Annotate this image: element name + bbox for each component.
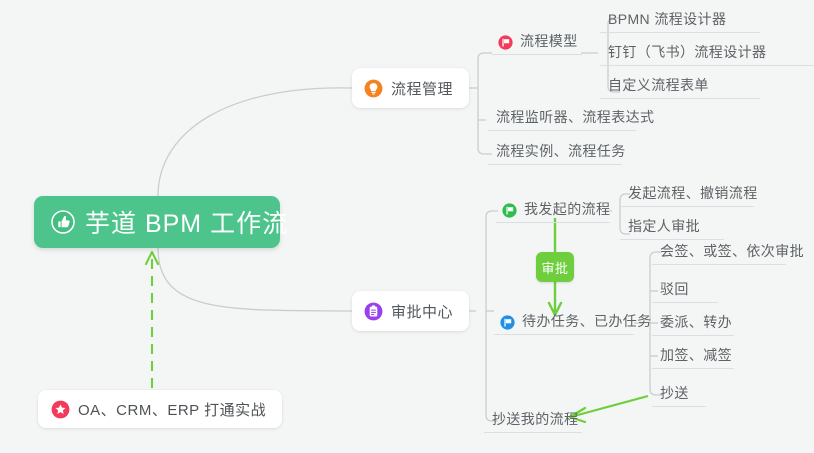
leaf-label: BPMN 流程设计器 bbox=[608, 11, 726, 28]
flag-icon bbox=[502, 203, 517, 218]
leaf-label: 指定人审批 bbox=[628, 218, 700, 235]
integration-label: OA、CRM、ERP 打通实战 bbox=[78, 399, 266, 420]
branch-node-approval-center[interactable]: 审批中心 bbox=[352, 291, 469, 331]
integration-node[interactable]: OA、CRM、ERP 打通实战 bbox=[38, 390, 282, 428]
leaf-label: 会签、或签、依次审批 bbox=[660, 243, 804, 260]
flag-icon bbox=[498, 35, 513, 50]
leaf-label: 待办任务、已办任务 bbox=[522, 313, 652, 330]
star-icon bbox=[51, 400, 70, 419]
flag-icon bbox=[500, 315, 515, 330]
leaf-label: 抄送我的流程 bbox=[492, 411, 578, 428]
leaf-label: 流程实例、流程任务 bbox=[496, 143, 626, 160]
leaf-start-cancel-process[interactable]: 发起流程、撤销流程 bbox=[620, 182, 754, 207]
leaf-label: 驳回 bbox=[660, 281, 689, 298]
root-node[interactable]: 芋道 BPM 工作流 bbox=[34, 196, 280, 248]
leaf-reject[interactable]: 驳回 bbox=[652, 278, 718, 303]
leaf-custom-form[interactable]: 自定义流程表单 bbox=[600, 74, 760, 99]
leaf-label: 流程模型 bbox=[520, 33, 578, 50]
lightbulb-icon bbox=[364, 79, 383, 98]
green-dashed-arrow bbox=[146, 252, 158, 388]
leaf-instance-task[interactable]: 流程实例、流程任务 bbox=[488, 140, 622, 165]
thumbs-up-icon bbox=[50, 209, 76, 235]
leaf-bpmn-designer[interactable]: BPMN 流程设计器 bbox=[600, 8, 760, 33]
leaf-label: 加签、减签 bbox=[660, 347, 732, 364]
branch-label: 审批中心 bbox=[391, 301, 453, 322]
leaf-label: 委派、转办 bbox=[660, 314, 732, 331]
approve-annotation-badge: 审批 bbox=[536, 252, 574, 282]
leaf-cc[interactable]: 抄送 bbox=[652, 382, 706, 407]
branch-label: 流程管理 bbox=[391, 78, 453, 99]
leaf-add-remove-sign[interactable]: 加签、减签 bbox=[652, 344, 734, 369]
leaf-assignee-approval[interactable]: 指定人审批 bbox=[620, 215, 724, 240]
leaf-label: 抄送 bbox=[660, 385, 689, 402]
leaf-label: 自定义流程表单 bbox=[608, 77, 709, 94]
leaf-listener-expression[interactable]: 流程监听器、流程表达式 bbox=[488, 106, 636, 131]
leaf-my-initiated-process[interactable]: 我发起的流程 bbox=[496, 198, 610, 223]
clipboard-icon bbox=[364, 302, 383, 321]
mindmap-canvas: 芋道 BPM 工作流 流程管理 流程模型 BPMN 流程设计器 钉钉（飞书 bbox=[0, 0, 814, 453]
leaf-delegate-transfer[interactable]: 委派、转办 bbox=[652, 311, 734, 336]
leaf-dingtalk-designer[interactable]: 钉钉（飞书）流程设计器 bbox=[600, 41, 814, 66]
leaf-todo-done-tasks[interactable]: 待办任务、已办任务 bbox=[494, 310, 634, 335]
leaf-cc-to-me-process[interactable]: 抄送我的流程 bbox=[484, 408, 582, 433]
leaf-label: 钉钉（飞书）流程设计器 bbox=[608, 44, 766, 61]
badge-label: 审批 bbox=[541, 258, 568, 277]
root-label: 芋道 BPM 工作流 bbox=[85, 204, 288, 240]
leaf-label: 发起流程、撤销流程 bbox=[628, 185, 758, 202]
leaf-label: 流程监听器、流程表达式 bbox=[496, 109, 654, 126]
leaf-label: 我发起的流程 bbox=[524, 201, 610, 218]
leaf-process-model[interactable]: 流程模型 bbox=[492, 30, 582, 55]
leaf-countersign[interactable]: 会签、或签、依次审批 bbox=[652, 240, 786, 265]
branch-node-process-management[interactable]: 流程管理 bbox=[352, 68, 469, 108]
